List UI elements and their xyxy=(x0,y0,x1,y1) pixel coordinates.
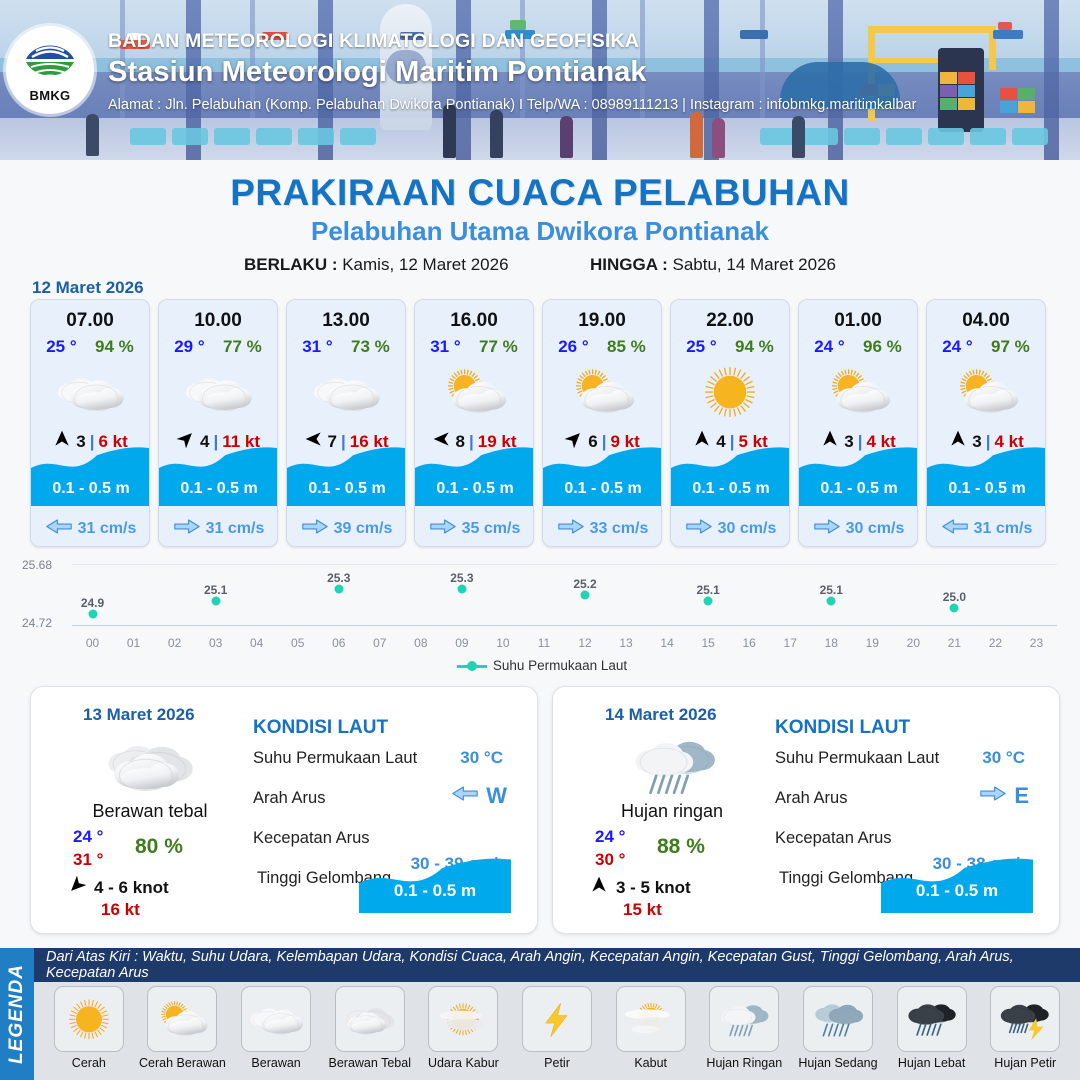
panel-sst-label: Suhu Permukaan Laut xyxy=(775,749,939,768)
card-weather-icon xyxy=(927,361,1045,423)
card-wave-graphic: 0.1 - 0.5 m xyxy=(671,446,790,506)
card-temperature: 31 ° xyxy=(430,337,460,357)
legend-icon-udara-kabur xyxy=(428,986,498,1052)
panel-wave-value: 0.1 - 0.5 m xyxy=(881,881,1033,901)
hourly-card: 13.00 31 ° 73 % 7 | 16 kt 0.1 - 0.5 m 39… xyxy=(286,299,406,547)
card-current-row: 31 cm/s xyxy=(927,518,1046,540)
chart-x-tick: 18 xyxy=(825,636,838,650)
header-banner: BMKG BADAN METEOROLOGI KLIMATOLOGI DAN G… xyxy=(0,0,1080,160)
panel-wind-row: 4 - 6 knot xyxy=(67,875,169,900)
card-wave-graphic: 0.1 - 0.5 m xyxy=(31,446,150,506)
card-humidity: 77 % xyxy=(223,337,262,357)
panel-wave-graphic: 0.1 - 0.5 m xyxy=(359,857,511,913)
legend-item: Hujan Ringan xyxy=(697,986,791,1070)
panel-current-dir-label: Arah Arus xyxy=(775,789,847,808)
card-wave-graphic: 0.1 - 0.5 m xyxy=(543,446,662,506)
card-current-row: 31 cm/s xyxy=(31,518,150,540)
panel-temp-max: 31 ° xyxy=(73,850,103,870)
card-wave-height: 0.1 - 0.5 m xyxy=(31,480,150,498)
panel-current-dir-label: Arah Arus xyxy=(253,789,325,808)
card-humidity: 97 % xyxy=(991,337,1030,357)
chart-x-tick: 13 xyxy=(619,636,632,650)
legend-item-label: Hujan Lebat xyxy=(898,1056,965,1070)
chart-x-tick: 19 xyxy=(866,636,879,650)
legend-item: Cerah Berawan xyxy=(136,986,230,1070)
chart-x-tick: 23 xyxy=(1030,636,1043,650)
panel-date: 14 Maret 2026 xyxy=(605,705,717,725)
legend-icon-hujan-lebat xyxy=(897,986,967,1052)
bmkg-logo-text: BMKG xyxy=(30,88,71,103)
panel-sea-title: KONDISI LAUT xyxy=(775,717,910,739)
legend-icon-cerah-berawan xyxy=(147,986,217,1052)
panel-wind-speed: 3 - 5 knot xyxy=(616,878,691,898)
card-current-row: 30 cm/s xyxy=(671,518,790,540)
card-humidity: 85 % xyxy=(607,337,646,357)
panel-weather-icon xyxy=(97,729,207,801)
chart-x-tick: 04 xyxy=(250,636,263,650)
legend-note-bar: Dari Atas Kiri : Waktu, Suhu Udara, Kele… xyxy=(34,948,1080,982)
page-title: PRAKIRAAN CUACA PELABUHAN xyxy=(0,172,1080,214)
hourly-card: 22.00 25 ° 94 % 4 | 5 kt 0.1 - 0.5 m 30 … xyxy=(670,299,790,547)
card-wave-height: 0.1 - 0.5 m xyxy=(671,480,790,498)
legend-item-label: Hujan Sedang xyxy=(798,1056,877,1070)
legend-item-label: Hujan Petir xyxy=(994,1056,1056,1070)
chart-x-tick: 11 xyxy=(538,636,550,650)
chart-data-label: 25.3 xyxy=(327,571,350,585)
current-direction-arrow-icon xyxy=(814,518,840,540)
chart-data-point xyxy=(334,584,343,593)
valid-from-label: BERLAKU : xyxy=(244,255,338,274)
card-time: 16.00 xyxy=(415,310,533,332)
card-current-speed: 31 cm/s xyxy=(974,520,1033,538)
card-humidity: 73 % xyxy=(351,337,390,357)
panel-wind-row: 3 - 5 knot xyxy=(589,875,691,900)
legend-item-label: Berawan Tebal xyxy=(329,1056,411,1070)
card-time: 10.00 xyxy=(159,310,277,332)
chart-ytick-bottom: 24.72 xyxy=(22,616,52,630)
card-current-row: 33 cm/s xyxy=(543,518,662,540)
card-temperature: 31 ° xyxy=(302,337,332,357)
hourly-card: 07.00 25 ° 94 % 3 | 6 kt 0.1 - 0.5 m 31 … xyxy=(30,299,150,547)
current-direction-arrow-icon xyxy=(980,785,1006,807)
daily-forecast-panels: 13 Maret 2026 Berawan tebal 24 ° 31 ° 80… xyxy=(30,686,1060,934)
card-current-row: 30 cm/s xyxy=(799,518,918,540)
chart-data-label: 25.3 xyxy=(450,571,473,585)
current-direction-arrow-icon xyxy=(46,518,72,540)
legend-item: Petir xyxy=(510,986,604,1070)
card-wave-graphic: 0.1 - 0.5 m xyxy=(927,446,1046,506)
legend-item-label: Udara Kabur xyxy=(428,1056,499,1070)
chart-data-point xyxy=(704,597,713,606)
chart-legend-label: Suhu Permukaan Laut xyxy=(493,658,627,673)
panel-current-dir-value: W xyxy=(486,783,507,809)
chart-legend-marker-icon xyxy=(457,661,487,671)
wind-direction-arrow-icon xyxy=(589,875,609,900)
card-current-speed: 33 cm/s xyxy=(590,520,649,538)
current-direction-arrow-icon xyxy=(174,518,200,540)
chart-x-tick: 07 xyxy=(373,636,386,650)
panel-condition: Berawan tebal xyxy=(45,801,255,822)
bmkg-logo-mark xyxy=(22,37,78,87)
legend-item-label: Hujan Ringan xyxy=(706,1056,782,1070)
card-current-speed: 35 cm/s xyxy=(462,520,521,538)
card-wave-height: 0.1 - 0.5 m xyxy=(159,480,278,498)
card-wave-height: 0.1 - 0.5 m xyxy=(287,480,406,498)
card-time: 13.00 xyxy=(287,310,405,332)
panel-current-dir-row: E xyxy=(980,783,1029,809)
legend-icon-hujan-sedang xyxy=(803,986,873,1052)
card-wave-graphic: 0.1 - 0.5 m xyxy=(287,446,406,506)
infographic-page: BMKG BADAN METEOROLOGI KLIMATOLOGI DAN G… xyxy=(0,0,1080,1080)
daily-forecast-panel: 14 Maret 2026 Hujan ringan 24 ° 30 ° 88 … xyxy=(552,686,1060,934)
panel-wave-value: 0.1 - 0.5 m xyxy=(359,881,511,901)
panel-temp-min: 24 ° xyxy=(73,827,103,847)
panel-sst-label: Suhu Permukaan Laut xyxy=(253,749,417,768)
panel-wave-graphic: 0.1 - 0.5 m xyxy=(881,857,1033,913)
valid-until-value: Sabtu, 14 Maret 2026 xyxy=(673,255,837,274)
card-temperature: 24 ° xyxy=(942,337,972,357)
card-current-speed: 30 cm/s xyxy=(846,520,905,538)
chart-x-tick: 02 xyxy=(168,636,181,650)
chart-x-tick: 10 xyxy=(496,636,509,650)
legend-items: Cerah Cerah Berawan Berawan Berawan Teba… xyxy=(34,982,1080,1080)
card-current-speed: 31 cm/s xyxy=(206,520,265,538)
station-address: Alamat : Jln. Pelabuhan (Komp. Pelabuhan… xyxy=(108,97,916,113)
panel-wind-speed: 4 - 6 knot xyxy=(94,878,169,898)
card-time: 04.00 xyxy=(927,310,1045,332)
hourly-card: 16.00 31 ° 77 % 8 | 19 kt 0.1 - 0.5 m 35… xyxy=(414,299,534,547)
card-wave-graphic: 0.1 - 0.5 m xyxy=(159,446,278,506)
legend-item: Kabut xyxy=(604,986,698,1070)
card-weather-icon xyxy=(159,361,277,423)
chart-data-point xyxy=(457,584,466,593)
chart-data-point xyxy=(950,603,959,612)
chart-x-tick: 16 xyxy=(743,636,756,650)
chart-legend: Suhu Permukaan Laut xyxy=(22,658,1062,673)
chart-data-label: 25.0 xyxy=(943,590,966,604)
chart-x-tick: 22 xyxy=(989,636,1002,650)
card-weather-icon xyxy=(31,361,149,423)
hourly-card: 19.00 26 ° 85 % 6 | 9 kt 0.1 - 0.5 m 33 … xyxy=(542,299,662,547)
legend-item-label: Cerah Berawan xyxy=(139,1056,226,1070)
panel-current-dir-row: W xyxy=(452,783,507,809)
legend-icon-petir xyxy=(522,986,592,1052)
card-humidity: 77 % xyxy=(479,337,518,357)
chart-x-tick: 17 xyxy=(784,636,797,650)
card-current-row: 31 cm/s xyxy=(159,518,278,540)
chart-data-label: 25.1 xyxy=(696,583,719,597)
chart-data-point xyxy=(827,597,836,606)
chart-x-tick: 21 xyxy=(948,636,961,650)
legend-item: Hujan Sedang xyxy=(791,986,885,1070)
legend-icon-kabut xyxy=(616,986,686,1052)
panel-gust: 15 kt xyxy=(623,900,662,920)
card-wave-height: 0.1 - 0.5 m xyxy=(799,480,918,498)
legend-icon-cerah xyxy=(54,986,124,1052)
current-direction-arrow-icon xyxy=(302,518,328,540)
current-direction-arrow-icon xyxy=(558,518,584,540)
card-wave-graphic: 0.1 - 0.5 m xyxy=(415,446,534,506)
legend-icon-berawan xyxy=(241,986,311,1052)
panel-condition: Hujan ringan xyxy=(567,801,777,822)
card-wave-height: 0.1 - 0.5 m xyxy=(543,480,662,498)
chart-data-point xyxy=(88,610,97,619)
panel-sst-value: 30 °C xyxy=(982,748,1025,768)
card-time: 01.00 xyxy=(799,310,917,332)
header-text-block: BADAN METEOROLOGI KLIMATOLOGI DAN GEOFIS… xyxy=(108,30,916,113)
panel-sea-title: KONDISI LAUT xyxy=(253,717,388,739)
legend-item: Hujan Lebat xyxy=(885,986,979,1070)
chart-x-tick: 01 xyxy=(127,636,140,650)
hourly-card: 10.00 29 ° 77 % 4 | 11 kt 0.1 - 0.5 m 31… xyxy=(158,299,278,547)
wind-direction-arrow-icon xyxy=(67,875,87,900)
current-direction-arrow-icon xyxy=(452,785,478,807)
card-humidity: 96 % xyxy=(863,337,902,357)
card-weather-icon xyxy=(799,361,917,423)
hourly-date-label: 12 Maret 2026 xyxy=(32,278,144,298)
legend-item: Udara Kabur xyxy=(417,986,511,1070)
chart-data-point xyxy=(211,597,220,606)
legend-side-title: LEGENDA xyxy=(0,948,34,1080)
chart-ytick-top: 25.68 xyxy=(22,558,52,572)
panel-date: 13 Maret 2026 xyxy=(83,705,195,725)
hourly-card: 01.00 24 ° 96 % 3 | 4 kt 0.1 - 0.5 m 30 … xyxy=(798,299,918,547)
panel-weather-icon xyxy=(619,729,729,801)
panel-current-speed-label: Kecepatan Arus xyxy=(775,829,892,848)
legend-icon-hujan-petir xyxy=(990,986,1060,1052)
current-direction-arrow-icon xyxy=(686,518,712,540)
card-wave-height: 0.1 - 0.5 m xyxy=(415,480,534,498)
chart-x-tick: 00 xyxy=(86,636,99,650)
card-temperature: 24 ° xyxy=(814,337,844,357)
page-subtitle: Pelabuhan Utama Dwikora Pontianak xyxy=(0,216,1080,247)
chart-x-tick: 03 xyxy=(209,636,222,650)
chart-data-label: 25.1 xyxy=(204,583,227,597)
chart-x-tick: 09 xyxy=(455,636,468,650)
legend-item: Hujan Petir xyxy=(978,986,1072,1070)
daily-forecast-panel: 13 Maret 2026 Berawan tebal 24 ° 31 ° 80… xyxy=(30,686,538,934)
chart-data-label: 24.9 xyxy=(81,596,104,610)
chart-x-tick: 08 xyxy=(414,636,427,650)
legend-item: Cerah xyxy=(42,986,136,1070)
chart-data-point xyxy=(581,591,590,600)
station-name: Stasiun Meteorologi Maritim Pontianak xyxy=(108,56,916,89)
current-direction-arrow-icon xyxy=(430,518,456,540)
legend-item-label: Kabut xyxy=(634,1056,667,1070)
card-current-speed: 31 cm/s xyxy=(78,520,137,538)
chart-data-label: 25.1 xyxy=(820,583,843,597)
card-current-row: 35 cm/s xyxy=(415,518,534,540)
card-wave-graphic: 0.1 - 0.5 m xyxy=(799,446,918,506)
card-temperature: 25 ° xyxy=(46,337,76,357)
chart-x-tick: 06 xyxy=(332,636,345,650)
legend-item-label: Petir xyxy=(544,1056,570,1070)
legend-item: Berawan xyxy=(229,986,323,1070)
chart-data-label: 25.2 xyxy=(573,577,596,591)
card-weather-icon xyxy=(415,361,533,423)
chart-x-tick: 14 xyxy=(660,636,673,650)
legend-icon-berawan-tebal xyxy=(335,986,405,1052)
card-weather-icon xyxy=(671,361,789,423)
chart-x-tick: 15 xyxy=(701,636,714,650)
panel-gust: 16 kt xyxy=(101,900,140,920)
card-weather-icon xyxy=(543,361,661,423)
panel-current-dir-value: E xyxy=(1014,783,1029,809)
card-weather-icon xyxy=(287,361,405,423)
panel-temp-max: 30 ° xyxy=(595,850,625,870)
legend-icon-hujan-ringan xyxy=(709,986,779,1052)
bmkg-logo: BMKG xyxy=(6,26,94,114)
hourly-forecast-cards: 07.00 25 ° 94 % 3 | 6 kt 0.1 - 0.5 m 31 … xyxy=(30,299,1046,547)
card-temperature: 25 ° xyxy=(686,337,716,357)
card-time: 19.00 xyxy=(543,310,661,332)
card-time: 22.00 xyxy=(671,310,789,332)
card-current-speed: 30 cm/s xyxy=(718,520,777,538)
card-humidity: 94 % xyxy=(95,337,134,357)
panel-current-speed-label: Kecepatan Arus xyxy=(253,829,370,848)
card-time: 07.00 xyxy=(31,310,149,332)
chart-x-tick: 05 xyxy=(291,636,304,650)
legend-item: Berawan Tebal xyxy=(323,986,417,1070)
panel-temp-min: 24 ° xyxy=(595,827,625,847)
hourly-card: 04.00 24 ° 97 % 3 | 4 kt 0.1 - 0.5 m 31 … xyxy=(926,299,1046,547)
chart-x-tick: 20 xyxy=(907,636,920,650)
card-humidity: 94 % xyxy=(735,337,774,357)
panel-sst-value: 30 °C xyxy=(460,748,503,768)
card-temperature: 29 ° xyxy=(174,337,204,357)
sst-chart: 25.68 24.72 0001020304050607080910111213… xyxy=(22,558,1062,678)
current-direction-arrow-icon xyxy=(942,518,968,540)
panel-humidity: 88 % xyxy=(657,835,705,859)
chart-x-tick: 12 xyxy=(578,636,591,650)
validity-row: BERLAKU : Kamis, 12 Maret 2026 HINGGA : … xyxy=(0,255,1080,275)
card-wave-height: 0.1 - 0.5 m xyxy=(927,480,1046,498)
valid-until-label: HINGGA : xyxy=(590,255,668,274)
legend-section: LEGENDA Dari Atas Kiri : Waktu, Suhu Uda… xyxy=(0,948,1080,1080)
card-current-speed: 39 cm/s xyxy=(334,520,393,538)
panel-humidity: 80 % xyxy=(135,835,183,859)
valid-from-value: Kamis, 12 Maret 2026 xyxy=(342,255,508,274)
card-temperature: 26 ° xyxy=(558,337,588,357)
agency-name: BADAN METEOROLOGI KLIMATOLOGI DAN GEOFIS… xyxy=(108,30,916,53)
chart-plot-area: 0001020304050607080910111213141516171819… xyxy=(72,564,1057,626)
legend-item-label: Berawan xyxy=(251,1056,300,1070)
card-current-row: 39 cm/s xyxy=(287,518,406,540)
legend-note: Dari Atas Kiri : Waktu, Suhu Udara, Kele… xyxy=(46,949,1080,981)
legend-item-label: Cerah xyxy=(72,1056,106,1070)
